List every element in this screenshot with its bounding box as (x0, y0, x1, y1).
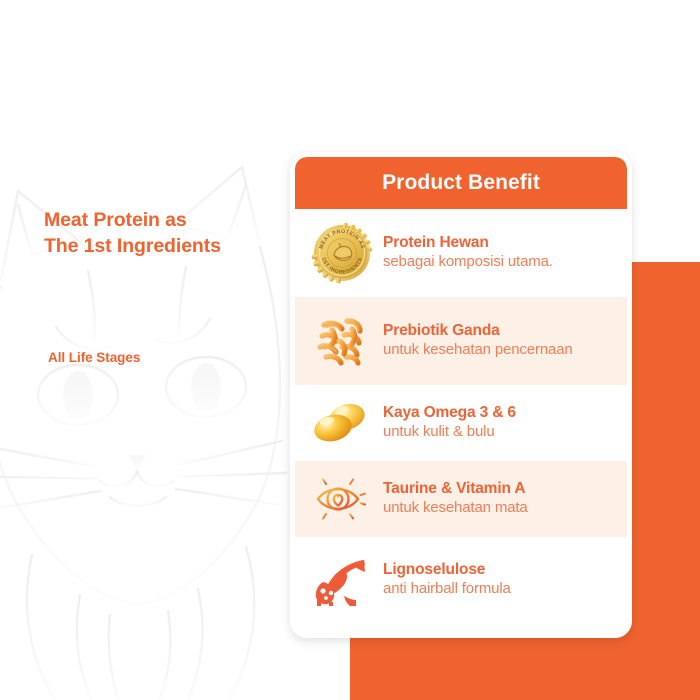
benefit-title: Lignoselulose (383, 561, 511, 580)
benefit-row-lignoselulose[interactable]: Lignoselulose anti hairball formula (295, 537, 627, 623)
benefit-desc: untuk kulit & bulu (383, 423, 516, 441)
benefit-row-kaya-omega[interactable]: Kaya Omega 3 & 6 untuk kulit & bulu (295, 385, 627, 461)
benefit-desc: untuk kesehatan pencernaan (383, 341, 573, 359)
card-header-title: Product Benefit (382, 171, 540, 195)
benefit-desc: untuk kesehatan mata (383, 499, 528, 517)
hero-title-line2: The 1st Ingredients (44, 234, 294, 260)
benefit-desc: anti hairball formula (383, 580, 511, 598)
eye-heart-icon (309, 466, 375, 532)
omega-capsules-icon (309, 390, 375, 456)
benefit-title: Prebiotik Ganda (383, 322, 573, 341)
benefit-title: Protein Hewan (383, 234, 553, 253)
product-benefit-card: Product Benefit (290, 152, 632, 638)
benefit-row-protein-hewan[interactable]: MEAT PROTEIN AS 1ST INGREDIENTS Protein … (295, 209, 627, 297)
infographic-canvas: Meat Protein as The 1st Ingredients All … (0, 0, 700, 700)
benefit-row-prebiotik-ganda[interactable]: Prebiotik Ganda untuk kesehatan pencerna… (295, 297, 627, 385)
benefit-row-taurine-vitamin-a[interactable]: Taurine & Vitamin A untuk kesehatan mata (295, 461, 627, 537)
benefit-title: Taurine & Vitamin A (383, 480, 528, 499)
card-header: Product Benefit (295, 157, 627, 209)
hero-title-line1: Meat Protein as (44, 208, 294, 234)
hero-heading: Meat Protein as The 1st Ingredients (44, 208, 294, 259)
benefit-desc: sebagai komposisi utama. (383, 253, 553, 271)
gold-seal-icon: MEAT PROTEIN AS 1ST INGREDIENTS (309, 220, 375, 286)
cat-watermark (0, 95, 320, 700)
grooming-cat-icon (309, 547, 375, 613)
hero-subtitle: All Life Stages (48, 350, 140, 365)
prebiotic-bacteria-icon (309, 308, 375, 374)
benefit-title: Kaya Omega 3 & 6 (383, 404, 516, 423)
benefit-list: MEAT PROTEIN AS 1ST INGREDIENTS Protein … (295, 209, 627, 633)
